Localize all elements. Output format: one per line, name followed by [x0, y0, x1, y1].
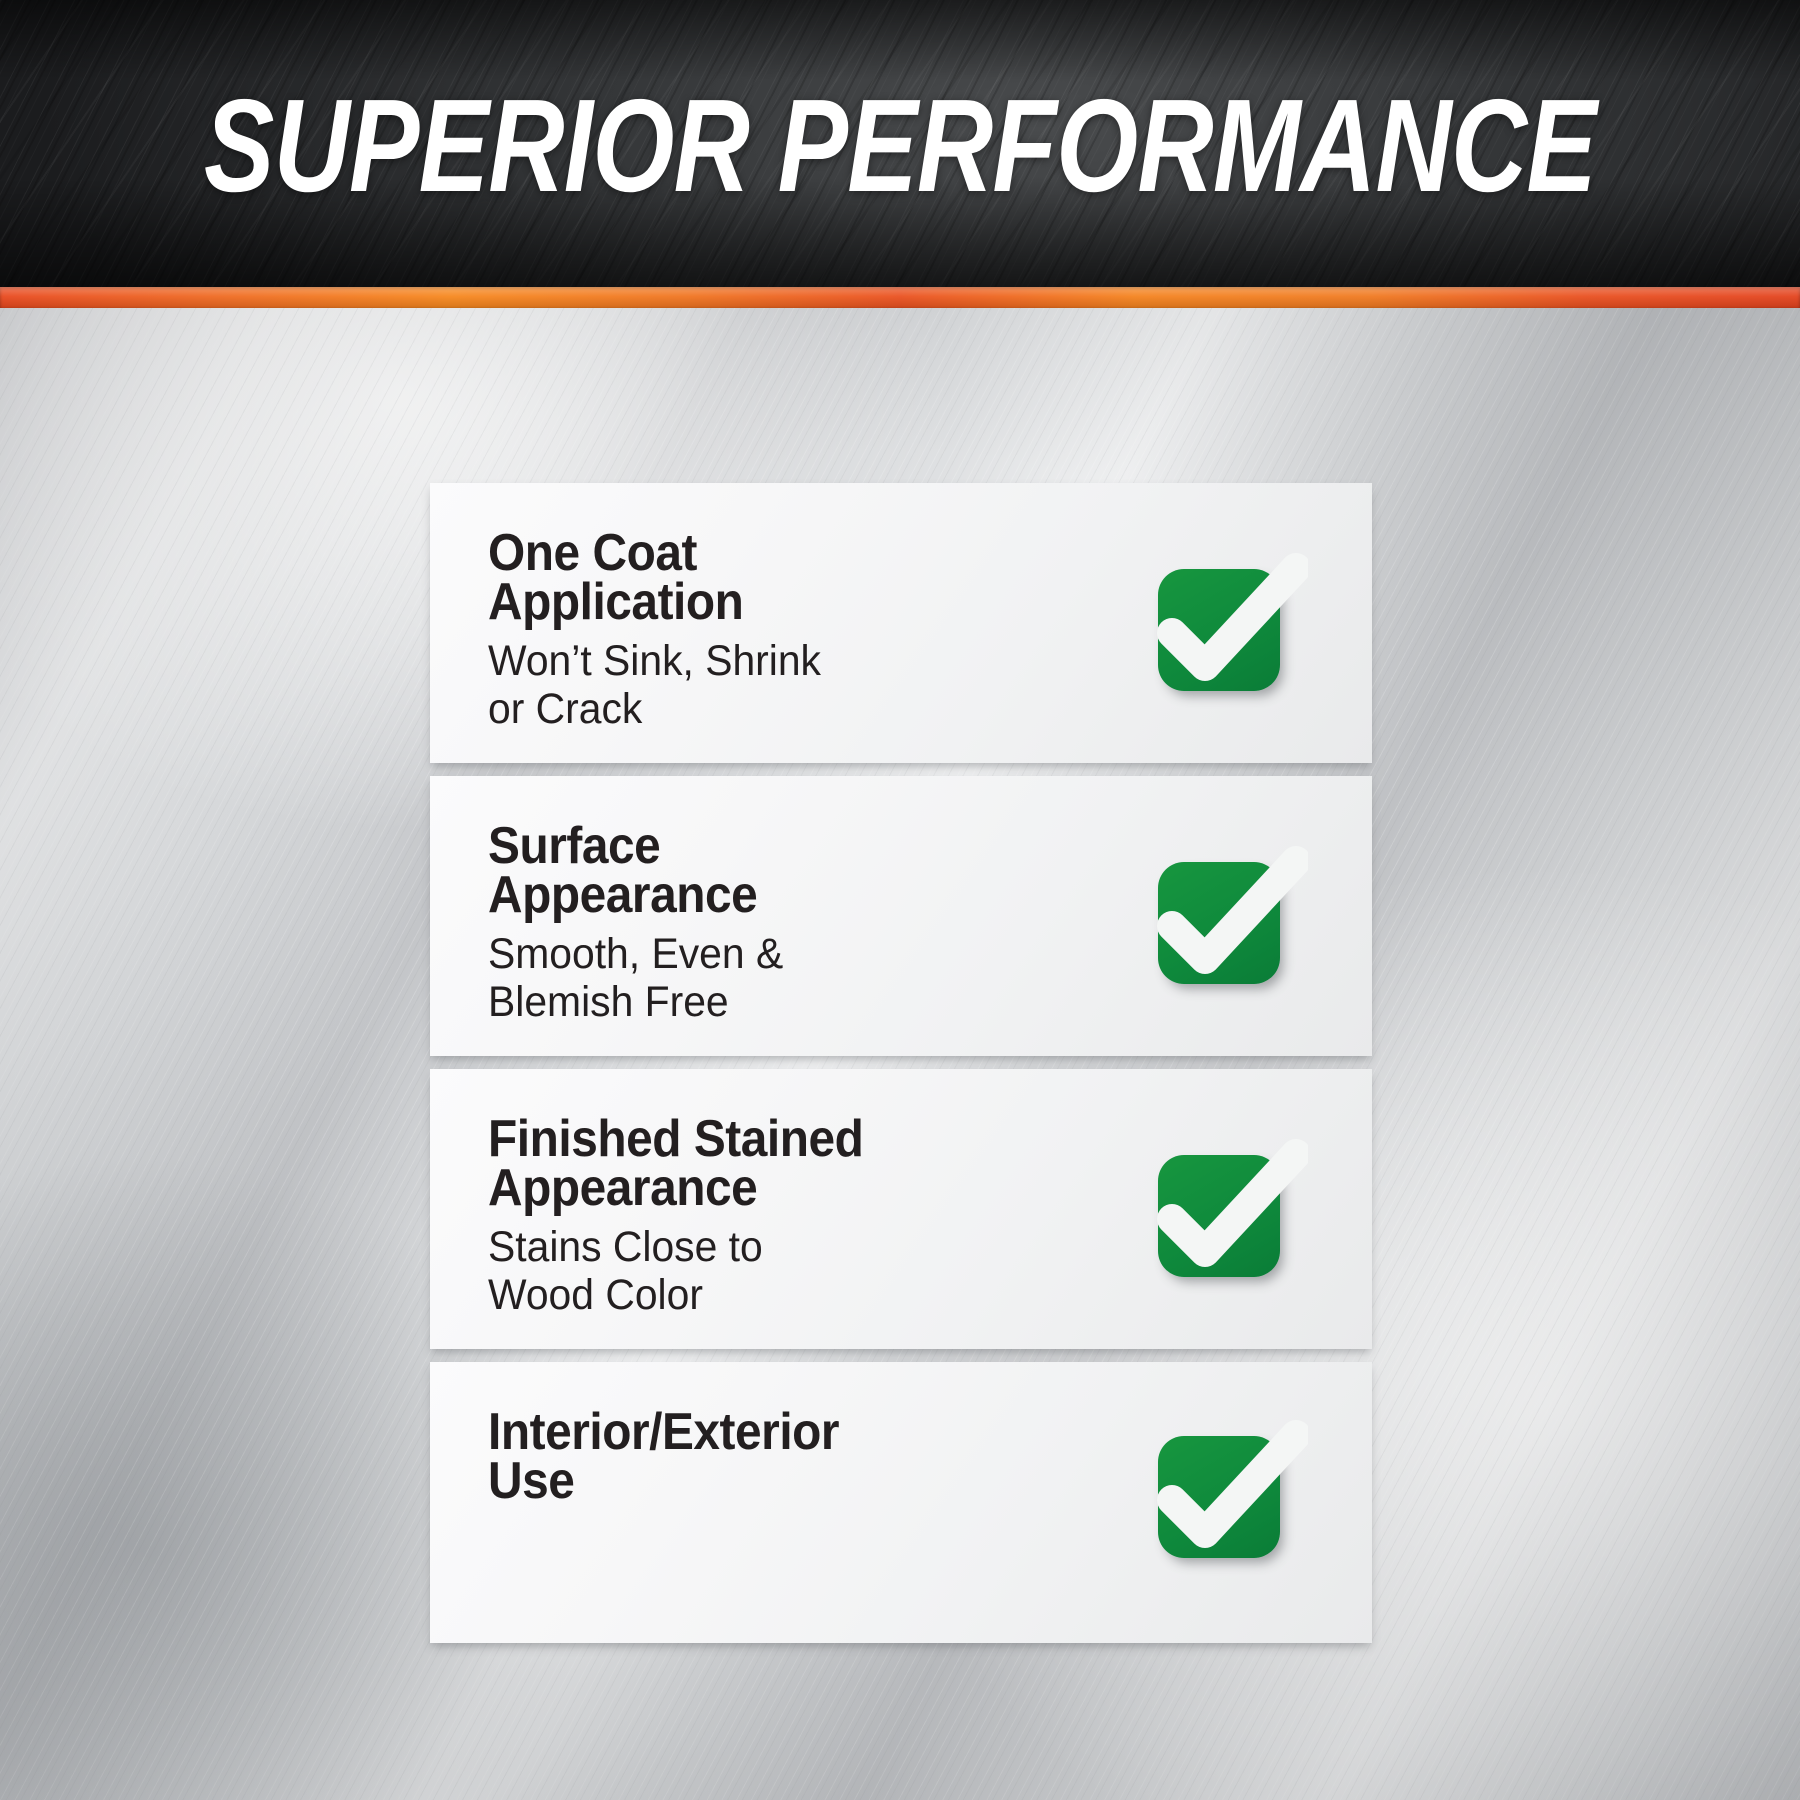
green-check-icon	[1148, 840, 1308, 1000]
feature-card-text: Interior/Exterior Use	[488, 1404, 870, 1516]
checkmark-glyph	[1148, 1133, 1308, 1293]
green-check-icon	[1148, 1414, 1308, 1574]
feature-title: Surface Appearance	[488, 822, 774, 921]
poster-canvas: SUPERIOR PERFORMANCE One Coat Applicatio…	[0, 0, 1800, 1800]
orange-bar-sheen	[0, 287, 1800, 308]
feature-card: Surface Appearance Smooth, Even & Blemis…	[430, 776, 1372, 1056]
feature-card-text: Finished Stained Appearance Stains Close…	[488, 1111, 896, 1319]
feature-subtitle: Won’t Sink, Shrink or Crack	[488, 637, 821, 733]
orange-accent-bar	[0, 287, 1800, 308]
page-title: SUPERIOR PERFORMANCE	[180, 0, 1620, 287]
checkmark-glyph	[1148, 1414, 1308, 1574]
feature-title: One Coat Application	[488, 529, 810, 628]
header-banner: SUPERIOR PERFORMANCE	[0, 0, 1800, 287]
green-check-icon	[1148, 1133, 1308, 1293]
feature-subtitle: Stains Close to Wood Color	[488, 1223, 876, 1319]
feature-subtitle: Smooth, Even & Blemish Free	[488, 930, 783, 1026]
feature-card-text: One Coat Application Won’t Sink, Shrink …	[488, 525, 839, 733]
checkmark-glyph	[1148, 547, 1308, 707]
feature-list: One Coat Application Won’t Sink, Shrink …	[430, 483, 1372, 1643]
checkmark-glyph	[1148, 840, 1308, 1000]
feature-card: One Coat Application Won’t Sink, Shrink …	[430, 483, 1372, 763]
feature-title: Interior/Exterior Use	[488, 1408, 839, 1507]
green-check-icon	[1148, 547, 1308, 707]
feature-card-text: Surface Appearance Smooth, Even & Blemis…	[488, 818, 799, 1026]
feature-card: Interior/Exterior Use	[430, 1362, 1372, 1643]
feature-title: Finished Stained Appearance	[488, 1115, 863, 1214]
feature-card: Finished Stained Appearance Stains Close…	[430, 1069, 1372, 1349]
